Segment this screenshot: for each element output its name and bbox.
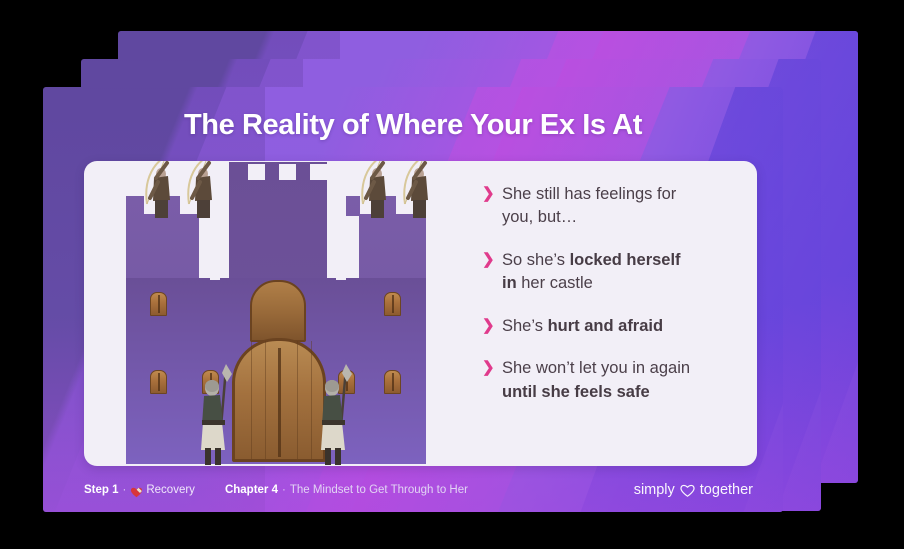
archer-figure [178, 161, 220, 220]
list-item: ❯ She won’t let you in again until she f… [482, 357, 739, 404]
chevron-right-icon: ❯ [482, 357, 502, 404]
bullet-text: She won’t let you in again until she fee… [502, 357, 698, 404]
archer-figure [394, 161, 436, 220]
castle-window [384, 370, 401, 394]
castle-crenel [210, 266, 220, 280]
chevron-right-icon: ❯ [482, 249, 502, 296]
guard-figure [316, 362, 362, 466]
slide-title: The Reality of Where Your Ex Is At [43, 109, 783, 142]
footer-separator: · [123, 484, 127, 496]
brand-logo: simply together [634, 482, 753, 498]
brand-word-first: simply [634, 482, 675, 498]
archer-figure [352, 161, 394, 220]
footer-chapter-name: The Mindset to Get Through to Her [290, 484, 468, 496]
slide-card-front[interactable]: The Reality of Where Your Ex Is At [43, 87, 783, 512]
bullet-text: So she’s locked herself in her castle [502, 249, 698, 296]
bullet-text: She still has feelings for you, but… [502, 183, 698, 230]
content-panel: ❯ She still has feelings for you, but… ❯… [84, 161, 757, 466]
chevron-right-icon: ❯ [482, 315, 502, 338]
mending-heart-icon [130, 486, 143, 498]
castle-illustration [84, 161, 476, 466]
list-item: ❯ She’s hurt and afraid [482, 315, 739, 338]
footer-step-name: Recovery [146, 484, 195, 496]
list-item: ❯ So she’s locked herself in her castle [482, 249, 739, 296]
castle-crenel [336, 266, 346, 280]
castle-window [150, 370, 167, 394]
castle-window [150, 292, 167, 316]
footer-chapter-label: Chapter 4 [225, 484, 278, 496]
footer-separator: · [282, 484, 286, 496]
bullet-list: ❯ She still has feelings for you, but… ❯… [476, 161, 757, 466]
castle-crenel [310, 164, 327, 180]
castle-crenel [279, 164, 296, 180]
guard-figure [196, 362, 242, 466]
chevron-right-icon: ❯ [482, 183, 502, 230]
slide-stack-stage: The Reality of Where Your Ex Is At [0, 0, 904, 549]
castle-crenel [248, 164, 265, 180]
archer-figure [136, 161, 178, 220]
castle-gate [232, 338, 326, 462]
slide-footer: Step 1 · Recovery Chapter 4 · The Mindse… [84, 482, 753, 498]
castle-window [384, 292, 401, 316]
brand-word-second: together [700, 482, 753, 498]
bullet-text: She’s hurt and afraid [502, 315, 663, 338]
list-item: ❯ She still has feelings for you, but… [482, 183, 739, 230]
footer-step-label: Step 1 [84, 484, 119, 496]
castle-upper-door [250, 280, 306, 342]
heart-outline-icon [679, 483, 696, 498]
